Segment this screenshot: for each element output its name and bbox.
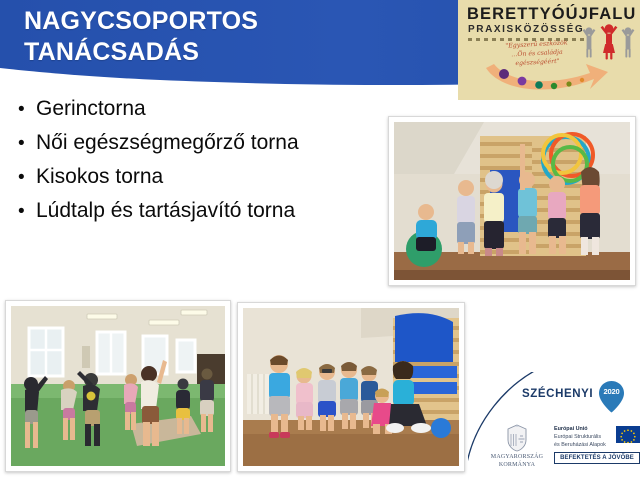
list-item-label: Női egészségmegőrző torna bbox=[36, 132, 404, 153]
page-title-line1: NAGYCSOPORTOS bbox=[24, 6, 444, 37]
eu-funding-text: Európai Unió Európai Strukturális és Ber… bbox=[554, 426, 612, 449]
photo-gym-women bbox=[388, 116, 636, 286]
photo-children-image bbox=[243, 308, 459, 466]
eu-line-1: Európai Unió bbox=[554, 426, 612, 434]
bullet-marker-icon: • bbox=[14, 134, 36, 153]
szechenyi-title: SZÉCHENYI bbox=[522, 388, 593, 400]
slide-canvas: NAGYCSOPORTOS TANÁCSADÁS BERETTYÓÚJFALU … bbox=[0, 0, 640, 480]
map-pin-icon bbox=[598, 380, 625, 413]
photo-children bbox=[237, 302, 465, 472]
list-item-label: Gerinctorna bbox=[36, 98, 404, 119]
list-item: • Gerinctorna bbox=[14, 98, 404, 119]
hungary-coat-of-arms-icon bbox=[506, 424, 528, 452]
list-item-label: Lúdtalp és tartásjavító torna bbox=[36, 200, 404, 221]
photo-aerobics-image bbox=[11, 306, 225, 466]
photo-gym-women-image bbox=[394, 122, 630, 280]
eu-line-2: Európai Strukturális bbox=[554, 434, 612, 442]
praxis-logo-subtitle: PRAXISKÖZÖSSÉG bbox=[468, 24, 584, 35]
list-item: • Női egészségmegőrző torna bbox=[14, 132, 404, 153]
list-item: • Kisokos torna bbox=[14, 166, 404, 187]
progress-arrow-icon bbox=[482, 58, 640, 100]
list-item-label: Kisokos torna bbox=[36, 166, 404, 187]
investing-in-future-badge: BEFEKTETÉS A JÖVŐBE bbox=[554, 452, 640, 464]
page-title: NAGYCSOPORTOS TANÁCSADÁS bbox=[24, 6, 444, 67]
bullet-marker-icon: • bbox=[14, 202, 36, 221]
bullet-marker-icon: • bbox=[14, 100, 36, 119]
szechenyi-year: 2020 bbox=[601, 387, 622, 396]
list-item: • Lúdtalp és tartásjavító torna bbox=[14, 200, 404, 221]
investing-in-future-label: BEFEKTETÉS A JÖVŐBE bbox=[555, 453, 639, 463]
government-label: MAGYARORSZÁG KORMÁNYA bbox=[486, 454, 548, 469]
services-bullet-list: • Gerinctorna • Női egészségmegőrző torn… bbox=[14, 98, 404, 234]
page-title-line2: TANÁCSADÁS bbox=[24, 37, 444, 68]
szechenyi-2020-logo: SZÉCHENYI 2020 MAGYARORSZÁG KORMÁNYA Eur… bbox=[468, 372, 640, 476]
bullet-marker-icon: • bbox=[14, 168, 36, 187]
eu-line-3: és Beruházási Alapok bbox=[554, 442, 612, 450]
praxiskozosseg-logo: BERETTYÓÚJFALU PRAXISKÖZÖSSÉG "Egyszerű … bbox=[458, 0, 640, 100]
eu-flag-icon bbox=[616, 426, 640, 443]
photo-aerobics bbox=[5, 300, 231, 472]
